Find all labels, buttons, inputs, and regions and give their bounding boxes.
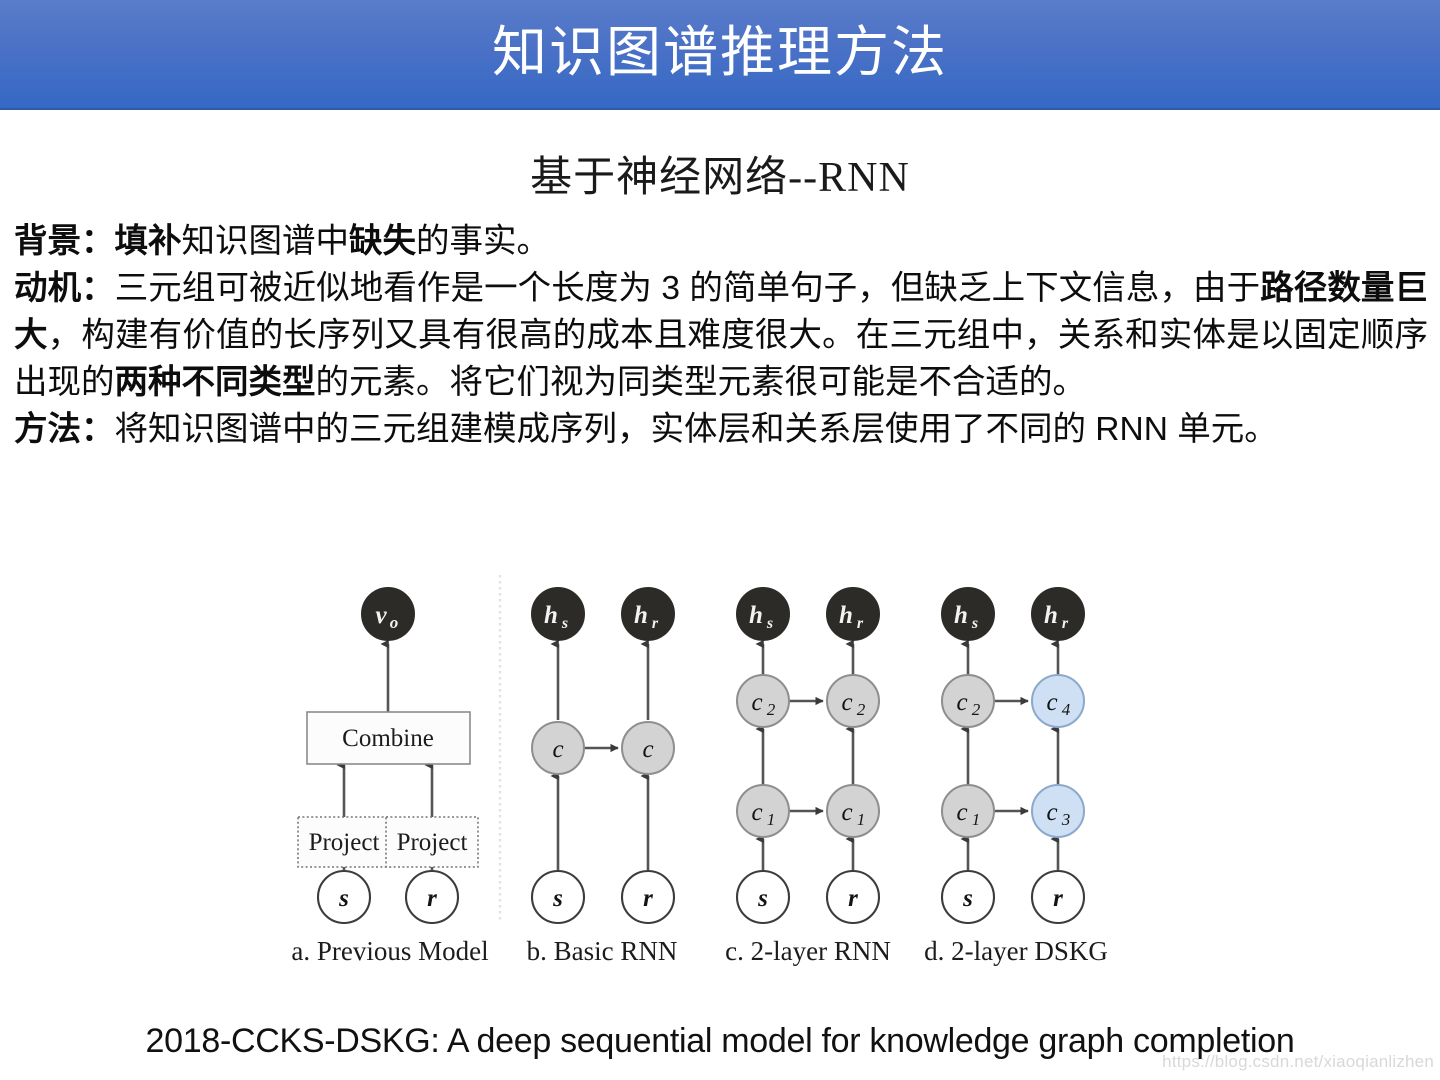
svg-text:c: c xyxy=(552,736,563,763)
svg-text:s: s xyxy=(971,615,978,632)
hidden-state-relation xyxy=(1032,588,1084,640)
svg-text:c: c xyxy=(642,736,653,763)
background-bold-2: 缺失 xyxy=(349,223,416,260)
svg-text:c: c xyxy=(956,799,967,826)
panel-d-2layer-dskg: h s h r c 2 c 4 c 1 c 3 s r d. 2-layer D… xyxy=(924,588,1108,966)
motivation-text-3: 的元素。将它们视为同类型元素很可能是不合适的。 xyxy=(316,364,1087,401)
paragraph-motivation: 动机：三元组可被近似地看作是一个长度为 3 的简单句子，但缺乏上下文信息，由于路… xyxy=(14,265,1428,406)
panel-b-caption: b. Basic RNN xyxy=(527,936,678,966)
cell-layer2-entity xyxy=(942,675,994,727)
cell-layer2-right xyxy=(827,675,879,727)
cell-layer1-left xyxy=(737,785,789,837)
svg-text:1: 1 xyxy=(767,810,776,829)
paragraph-method: 方法：将知识图谱中的三元组建模成序列，实体层和关系层使用了不同的 RNN 单元。 xyxy=(14,406,1428,453)
svg-text:c: c xyxy=(1046,689,1057,716)
svg-text:1: 1 xyxy=(972,810,981,829)
label-background: 背景： xyxy=(14,223,115,260)
svg-text:c: c xyxy=(751,799,762,826)
cell-layer1-entity xyxy=(942,785,994,837)
hidden-state-relation xyxy=(827,588,879,640)
project-box-left-label: Project xyxy=(309,829,380,856)
svg-text:c: c xyxy=(956,689,967,716)
cell-layer1-right xyxy=(827,785,879,837)
background-text-1: 知识图谱中 xyxy=(182,223,350,260)
svg-text:h: h xyxy=(839,602,853,629)
panel-c-caption: c. 2-layer RNN xyxy=(725,936,891,966)
svg-text:h: h xyxy=(1044,602,1058,629)
svg-text:s: s xyxy=(561,615,568,632)
svg-text:s: s xyxy=(552,885,563,912)
svg-text:3: 3 xyxy=(1061,810,1071,829)
svg-text:s: s xyxy=(766,615,773,632)
svg-text:c: c xyxy=(751,689,762,716)
cell-layer2-left xyxy=(737,675,789,727)
method-text-1: 将知识图谱中的三元组建模成序列，实体层和关系层使用了不同的 RNN 单元。 xyxy=(115,411,1278,448)
combine-box-label: Combine xyxy=(342,725,434,752)
paragraph-background: 背景：填补知识图谱中缺失的事实。 xyxy=(14,218,1428,265)
panel-d-caption: d. 2-layer DSKG xyxy=(924,936,1108,966)
background-text-2: 的事实。 xyxy=(416,223,550,260)
svg-text:r: r xyxy=(848,885,858,912)
panel-b-basic-rnn: h s h r c c s r b. Basic RNN xyxy=(527,588,678,966)
svg-text:1: 1 xyxy=(857,810,866,829)
hidden-state-source xyxy=(532,588,584,640)
svg-text:s: s xyxy=(338,885,349,912)
svg-text:o: o xyxy=(390,613,399,632)
header-banner: 知识图谱推理方法 xyxy=(0,0,1440,110)
svg-text:4: 4 xyxy=(1062,700,1071,719)
hidden-state-source xyxy=(737,588,789,640)
svg-text:h: h xyxy=(749,602,763,629)
svg-text:s: s xyxy=(757,885,768,912)
project-box-right-label: Project xyxy=(397,829,468,856)
label-motivation: 动机： xyxy=(14,270,115,307)
svg-text:c: c xyxy=(1046,799,1057,826)
svg-text:r: r xyxy=(652,615,659,632)
svg-text:v: v xyxy=(375,602,387,629)
svg-text:c: c xyxy=(841,799,852,826)
svg-text:r: r xyxy=(643,885,653,912)
cell-layer1-relation xyxy=(1032,785,1084,837)
output-node xyxy=(362,588,414,640)
background-bold-1: 填补 xyxy=(115,223,182,260)
slide-subtitle: 基于神经网络--RNN xyxy=(0,143,1440,204)
panel-a-previous-model: Combine Project Project v o s r a. Previ… xyxy=(291,588,488,966)
svg-text:h: h xyxy=(634,602,648,629)
hidden-state-source xyxy=(942,588,994,640)
cell-layer2-relation xyxy=(1032,675,1084,727)
svg-text:2: 2 xyxy=(767,700,776,719)
svg-text:c: c xyxy=(841,689,852,716)
svg-text:r: r xyxy=(1053,885,1063,912)
motivation-bold-2: 两种不同类型 xyxy=(115,364,316,401)
slide-body: 背景：填补知识图谱中缺失的事实。 动机：三元组可被近似地看作是一个长度为 3 的… xyxy=(14,218,1428,453)
svg-text:s: s xyxy=(962,885,973,912)
svg-text:r: r xyxy=(857,615,864,632)
svg-text:h: h xyxy=(954,602,968,629)
panel-a-caption: a. Previous Model xyxy=(291,936,488,966)
svg-text:h: h xyxy=(544,602,558,629)
panel-c-2layer-rnn: h s h r c 2 c 2 c 1 c 1 s r c. 2-layer R… xyxy=(725,588,891,966)
svg-text:2: 2 xyxy=(857,700,866,719)
label-method: 方法： xyxy=(14,411,115,448)
watermark: https://blog.csdn.net/xiaoqianlizhen xyxy=(1162,1052,1434,1072)
motivation-text-1: 三元组可被近似地看作是一个长度为 3 的简单句子，但缺乏上下文信息，由于 xyxy=(115,270,1260,307)
svg-text:2: 2 xyxy=(972,700,981,719)
hidden-state-relation xyxy=(622,588,674,640)
svg-text:r: r xyxy=(427,885,437,912)
page-title: 知识图谱推理方法 xyxy=(0,0,1440,110)
model-architecture-figure: Combine Project Project v o s r a. Previ… xyxy=(280,570,1140,970)
svg-text:r: r xyxy=(1062,615,1069,632)
